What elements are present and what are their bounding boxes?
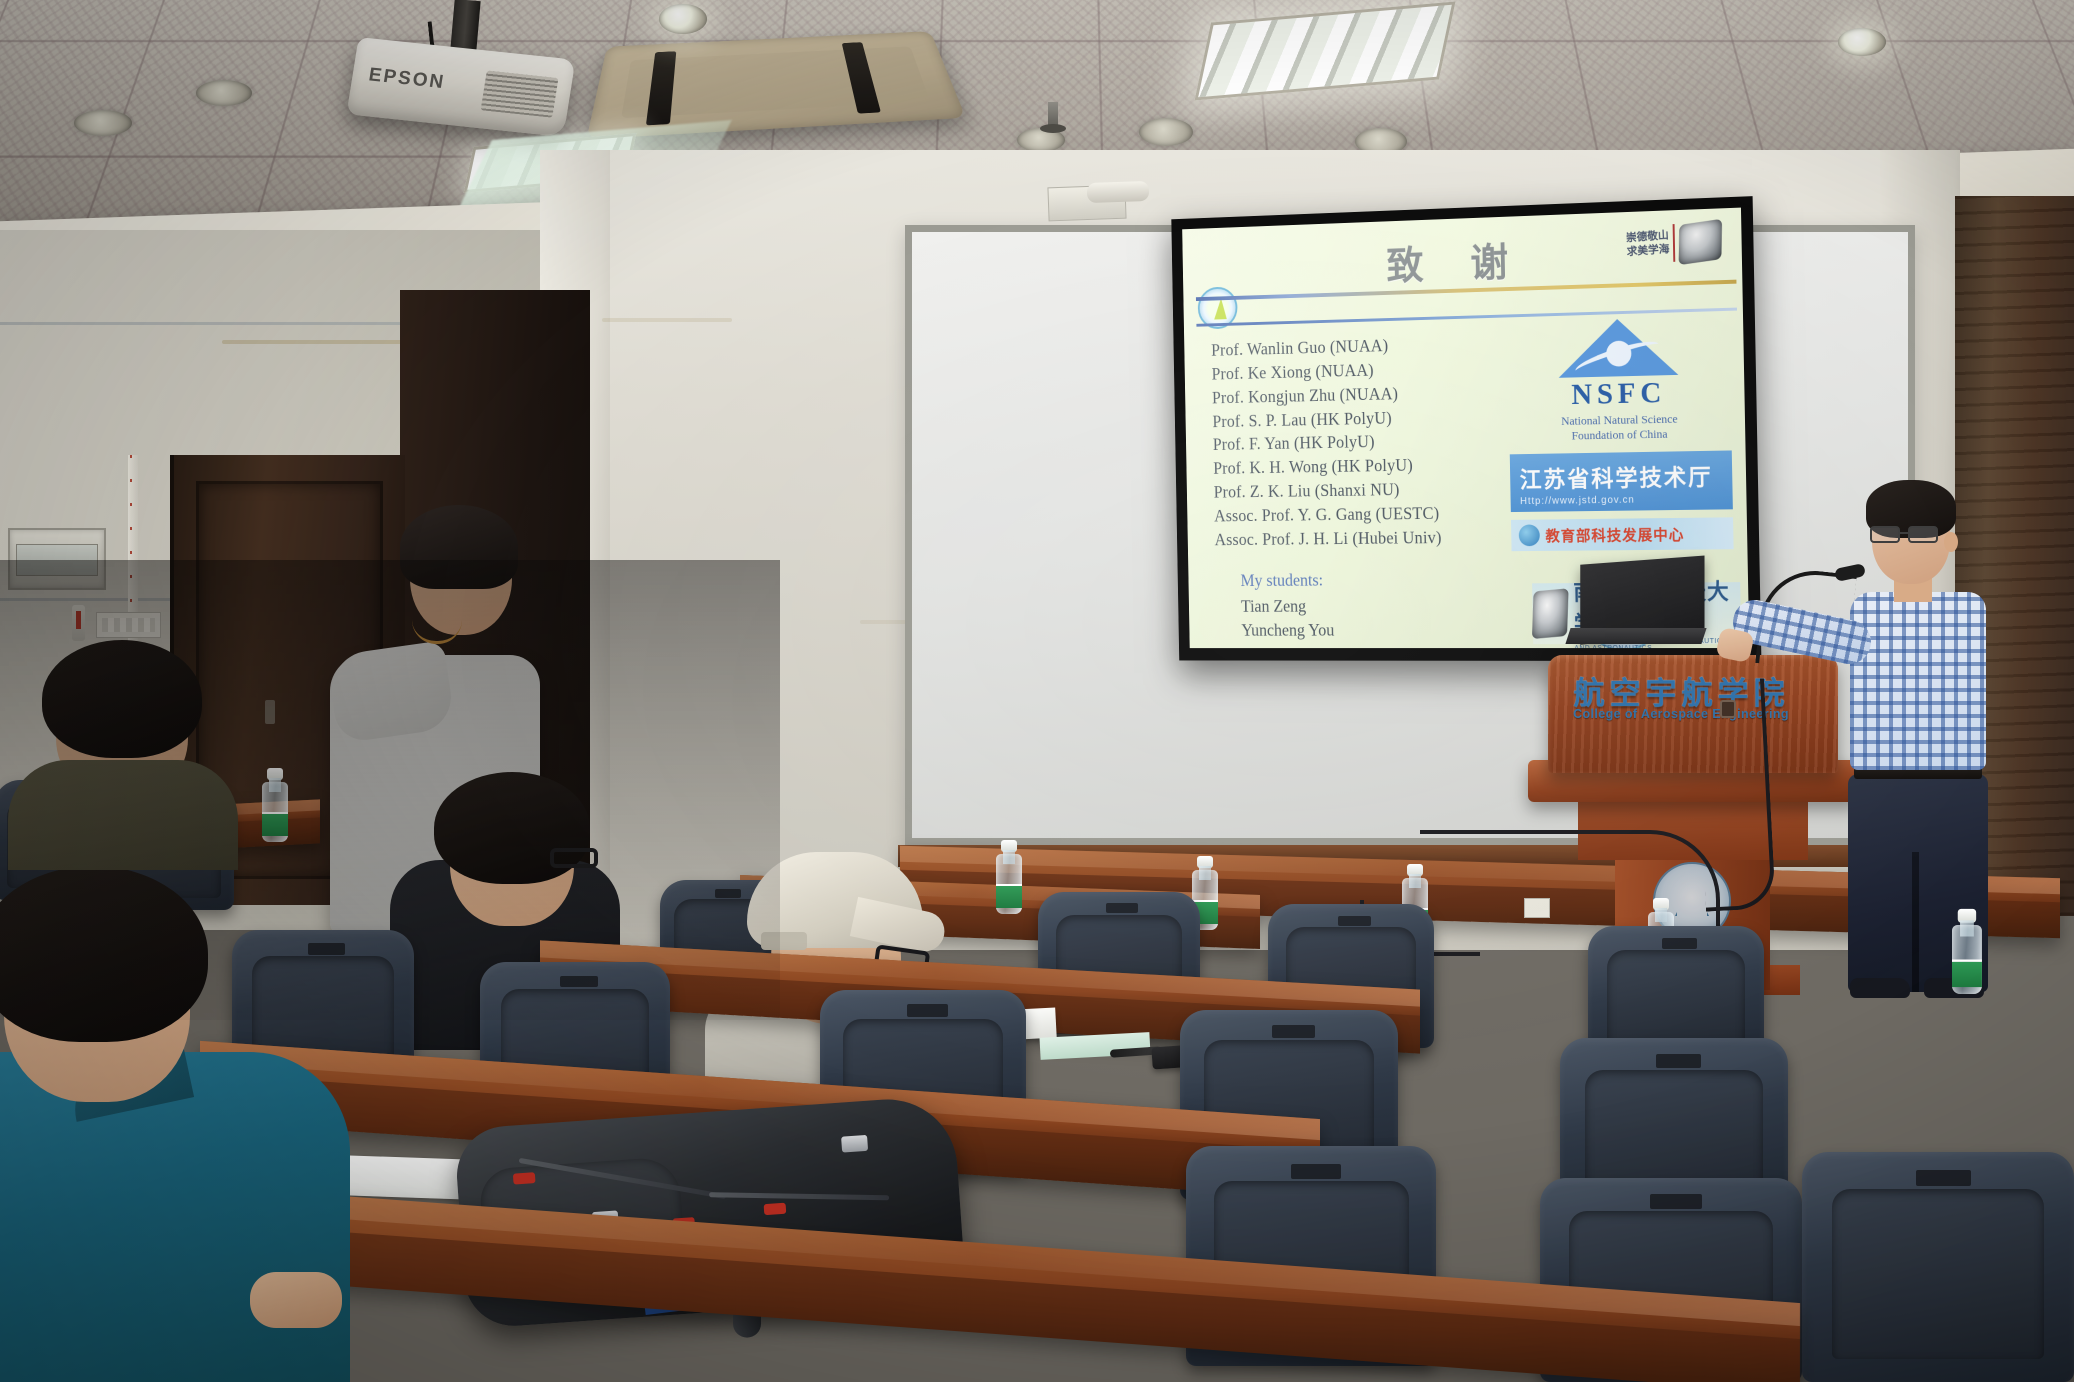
- nsfc-triangle-icon: [1558, 317, 1679, 377]
- lecture-hall-photo: EPSON 崇德敬山求美学海 致: [0, 0, 2074, 1382]
- presenter: [1820, 480, 2050, 1000]
- eyeglasses-icon: [1870, 526, 1952, 543]
- door-alarm-device[interactable]: [72, 605, 85, 641]
- downlight-icon: [196, 80, 252, 106]
- presenter-shoe: [1850, 978, 1910, 998]
- projector-vent-grille: [481, 71, 559, 118]
- presenter-laptop-base[interactable]: [1565, 628, 1706, 644]
- backpack-zipper-pull[interactable]: [513, 1172, 536, 1185]
- audience-hand: [250, 1272, 342, 1328]
- teal-jacket: [0, 1052, 350, 1382]
- nsfc-logo: NSFC National Natural Science Foundation…: [1507, 316, 1731, 445]
- downlight-icon: [659, 4, 707, 34]
- downlight-icon: [74, 110, 132, 136]
- acknowledgement-line: Assoc. Prof. Y. G. Gang (UESTC): [1214, 500, 1500, 527]
- moe-globe-icon: [1519, 524, 1540, 546]
- podium-label-english: College of Aerospace Engineering: [1556, 707, 1806, 721]
- students-heading: My students:: [1240, 570, 1323, 591]
- jsstd-url: Http://www.jstd.gov.cn: [1520, 493, 1725, 507]
- backpack-zipper: [709, 1192, 889, 1200]
- cap-strap-icon: [761, 932, 807, 950]
- water-bottle[interactable]: [996, 838, 1022, 914]
- eyeglasses-icon: [550, 848, 598, 868]
- projector-brand-label: EPSON: [367, 64, 447, 94]
- presenter-leg-split: [1912, 852, 1919, 992]
- audience-hair: [42, 640, 202, 758]
- electrical-panel: [8, 528, 106, 590]
- seat[interactable]: [1802, 1152, 2074, 1382]
- backpack-zipper-pull[interactable]: [764, 1203, 787, 1216]
- nuaa-crest-icon: [1532, 588, 1569, 639]
- nsfc-subtitle-2: Foundation of China: [1509, 426, 1731, 445]
- audience-shoulders: [8, 760, 238, 870]
- light-switch-plate[interactable]: [96, 612, 161, 638]
- student-name: Tian Zeng: [1241, 594, 1334, 619]
- jiangsu-sci-tech-logo: 江苏省科学技术厅 Http://www.jstd.gov.cn: [1510, 450, 1733, 512]
- sprinkler-icon: [1048, 102, 1058, 128]
- slide-title: 致 谢: [1182, 222, 1742, 298]
- student-name: Yuncheng You: [1241, 619, 1334, 643]
- backpack-logo-badge: [841, 1135, 868, 1153]
- wall-scuff: [602, 318, 732, 322]
- water-bottle[interactable]: [262, 766, 288, 842]
- students-list: Tian ZengYuncheng YouTingsong HuXufeng W…: [1241, 594, 1336, 648]
- downlight-icon: [1838, 28, 1886, 56]
- water-bottle[interactable]: [1952, 907, 1982, 994]
- door-handle-icon[interactable]: [265, 700, 275, 724]
- screen-roller-housing: [1087, 181, 1150, 203]
- moe-chinese-name: 教育部科技发展中心: [1545, 523, 1684, 545]
- moe-sci-tech-center-logo: 教育部科技发展中心: [1511, 517, 1734, 551]
- student-name: Tingsong Hu: [1242, 643, 1335, 648]
- presenter-shirt: [1850, 592, 1986, 770]
- acknowledgement-line: Assoc. Prof. J. H. Li (Hubei Univ): [1214, 525, 1500, 552]
- acknowledgement-list: Prof. Wanlin Guo (NUAA)Prof. Ke Xiong (N…: [1211, 330, 1500, 551]
- nsfc-acronym: NSFC: [1508, 375, 1731, 414]
- jsstd-chinese-name: 江苏省科学技术厅: [1519, 458, 1724, 495]
- downlight-icon: [1139, 118, 1193, 146]
- standing-student-hair: [400, 505, 518, 589]
